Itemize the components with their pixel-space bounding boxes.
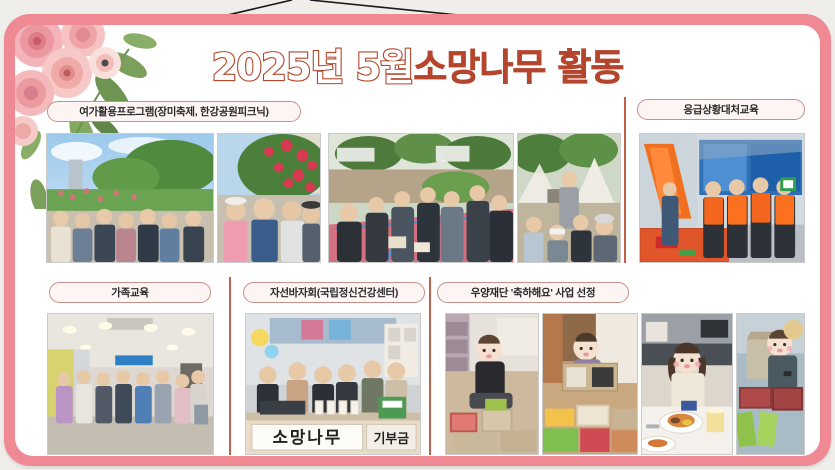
section-divider-vertical-3 [429,277,431,455]
photo-unpacking-meat-tray [736,313,805,455]
section-divider-vertical-2 [229,277,231,455]
photo-rose-festival-group [46,133,214,263]
photo-family-education-lobby [47,313,214,455]
page-title-main: 소망나무 활동 [413,46,623,89]
photo-life-vest-safety-training [639,133,805,263]
photo-grocery-delivery-floor [445,313,539,455]
poster-board: 2025년 5월소망나무 활동 [4,14,831,466]
photo-holding-gift-box [542,313,638,455]
section-divider-vertical-1 [624,97,626,263]
section-label-leisure: 여가활용프로그램(장미축제, 한강공원피크닉) [47,101,301,122]
photo-han-river-picnic-tent [517,133,621,263]
svg-text:소망나무: 소망나무 [272,427,342,447]
section-label-family: 가족교육 [49,282,211,303]
section-label-bazaar: 자선바자회(국립정신건강센터) [243,282,425,303]
photo-rose-garden-trio [217,133,321,263]
page-title: 2025년 5월소망나무 활동 [15,49,820,86]
photo-han-river-picnic-mat [328,133,514,263]
poster-panel: 2025년 5월소망나무 활동 [15,25,820,456]
photo-charity-bazaar-booth: 소망나무 기부금 [245,313,421,455]
svg-text:기부금: 기부금 [374,432,410,447]
page-title-date: 2025년 5월 [212,46,414,89]
section-label-wooyang: 우양재단 '축하해요' 사업 선정 [437,282,629,303]
photo-meal-table [641,313,733,455]
section-label-emergency: 응급상황대처교육 [637,99,805,120]
